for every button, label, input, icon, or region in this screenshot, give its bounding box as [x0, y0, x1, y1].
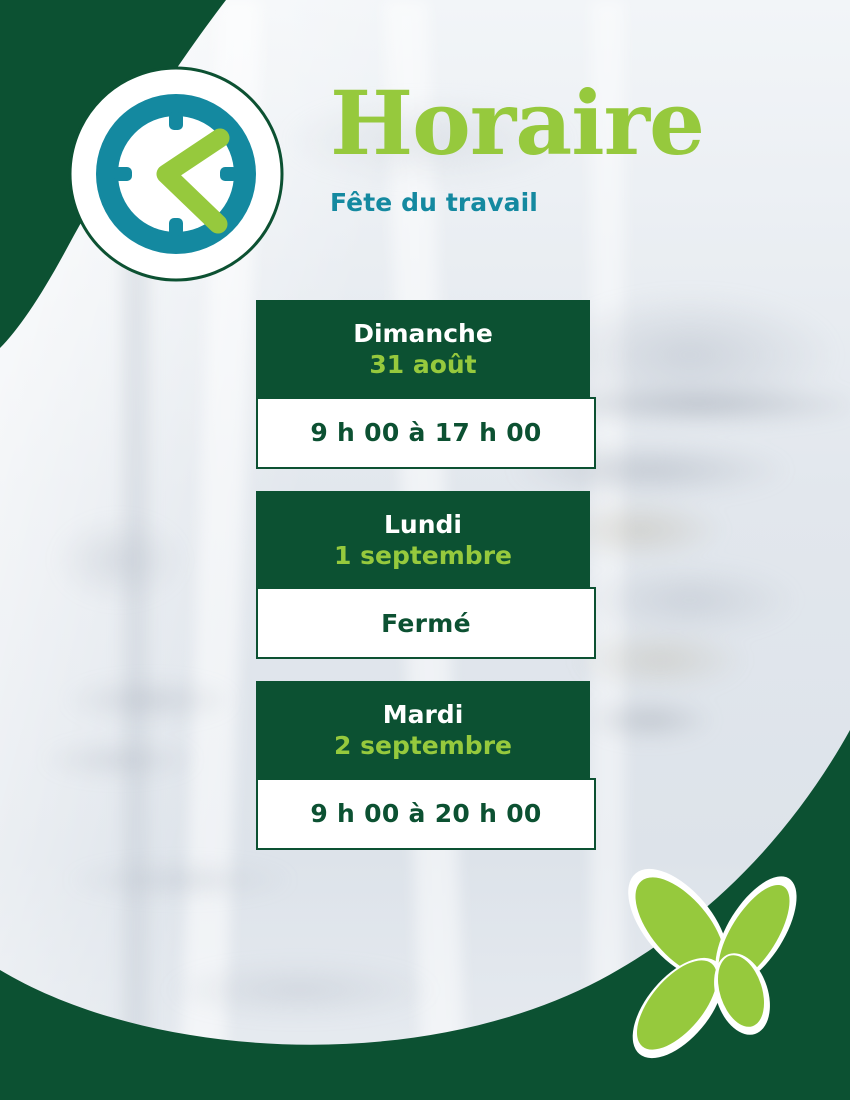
schedule-card-body: Fermé	[256, 587, 596, 659]
schedule-card-body: 9 h 00 à 20 h 00	[256, 778, 596, 850]
tick-12-icon	[169, 112, 183, 130]
schedule-card-header: Lundi 1 septembre	[256, 491, 590, 588]
poster-header: Horaire Fête du travail	[330, 82, 750, 217]
schedule-day-label: Dimanche	[266, 318, 580, 349]
tick-9-icon	[114, 167, 132, 181]
schedule-card-body: 9 h 00 à 17 h 00	[256, 397, 596, 469]
schedule-hours-label: 9 h 00 à 17 h 00	[310, 418, 541, 447]
schedule-card-header: Dimanche 31 août	[256, 300, 590, 397]
butterfly-logo-icon	[610, 852, 813, 1074]
schedule-poster: Horaire Fête du travail Dimanche 31 août…	[0, 0, 850, 1100]
clock-badge	[68, 66, 284, 282]
tick-3-icon	[220, 167, 238, 181]
tick-6-icon	[169, 218, 183, 236]
schedule-list: Dimanche 31 août 9 h 00 à 17 h 00 Lundi …	[256, 300, 596, 850]
schedule-day-label: Lundi	[266, 509, 580, 540]
schedule-hours-label: 9 h 00 à 20 h 00	[310, 799, 541, 828]
schedule-card-2: Mardi 2 septembre 9 h 00 à 20 h 00	[256, 681, 596, 850]
schedule-date-label: 31 août	[266, 349, 580, 380]
page-subtitle: Fête du travail	[330, 188, 750, 217]
schedule-card-0: Dimanche 31 août 9 h 00 à 17 h 00	[256, 300, 596, 469]
page-title: Horaire	[330, 82, 750, 166]
schedule-hours-label: Fermé	[381, 609, 471, 638]
clock-icon	[68, 66, 284, 282]
schedule-day-label: Mardi	[266, 699, 580, 730]
schedule-date-label: 2 septembre	[266, 730, 580, 761]
schedule-date-label: 1 septembre	[266, 540, 580, 571]
schedule-card-1: Lundi 1 septembre Fermé	[256, 491, 596, 660]
schedule-card-header: Mardi 2 septembre	[256, 681, 590, 778]
